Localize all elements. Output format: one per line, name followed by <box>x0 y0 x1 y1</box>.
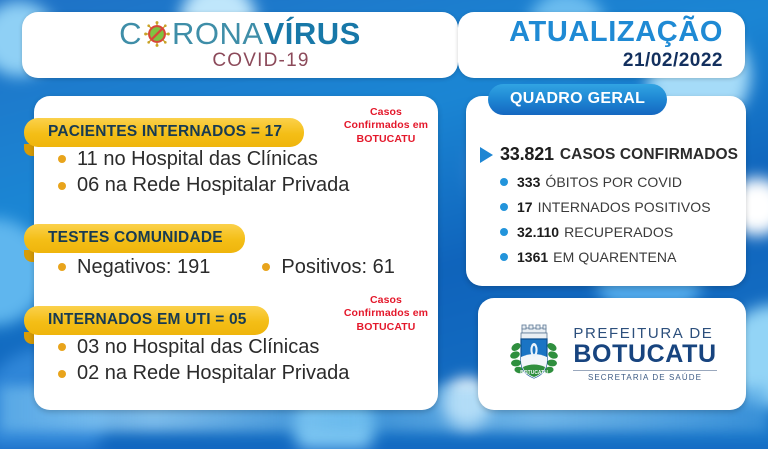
bullet-icon <box>58 155 66 163</box>
arrow-right-icon <box>480 147 493 163</box>
note-line: Casos <box>334 106 438 119</box>
brand-text-mid: RONA <box>172 18 264 49</box>
stat-number: 333 <box>517 174 540 190</box>
bullet-icon <box>58 182 66 190</box>
brand-text-bold: VÍRUS <box>264 18 361 49</box>
hero-stat-number: 33.821 <box>500 144 554 165</box>
stat-label: INTERNADOS POSITIVOS <box>538 199 711 215</box>
bullet-icon <box>500 178 508 186</box>
update-header: ATUALIZAÇÃO 21/02/2022 <box>458 12 745 78</box>
list-item: 06 na Rede Hospitalar Privada <box>58 172 349 198</box>
list-item-label: 11 no Hospital das Clínicas <box>77 146 318 172</box>
list-pacientes-internados: 11 no Hospital das Clínicas 06 na Rede H… <box>58 146 349 199</box>
logo-divider <box>573 370 716 371</box>
stat-row-quarentena: 1361 EM QUARENTENA <box>500 249 711 265</box>
bullet-icon <box>500 203 508 211</box>
bullet-icon <box>500 253 508 261</box>
bullet-icon <box>262 263 270 271</box>
note-line: Confirmados em <box>334 307 438 320</box>
section-pill-internados-uti: INTERNADOS EM UTI = 05 <box>24 306 269 335</box>
update-title: ATUALIZAÇÃO <box>509 18 723 47</box>
svg-text:BOTUCATU: BOTUCATU <box>521 370 549 376</box>
prefeitura-logo-text: PREFEITURA DE BOTUCATU SECRETARIA DE SAÚ… <box>573 326 716 382</box>
prefeitura-logo-card: BOTUCATU PREFEITURA DE BOTUCATU SECRETAR… <box>478 298 746 410</box>
botucatu-coat-of-arms-icon: BOTUCATU <box>507 323 561 385</box>
list-item-label: Positivos: 61 <box>281 254 394 280</box>
bullet-icon <box>500 228 508 236</box>
list-item: 11 no Hospital das Clínicas <box>58 146 349 172</box>
note-line: BOTUCATU <box>334 133 438 146</box>
quadro-geral-pill: QUADRO GERAL <box>488 84 667 115</box>
update-date: 21/02/2022 <box>623 50 723 72</box>
pill-label: PACIENTES INTERNADOS = 17 <box>24 118 304 147</box>
stat-row-internados: 17 INTERNADOS POSITIVOS <box>500 199 711 215</box>
list-testes-comunidade: Negativos: 191 Positivos: 61 <box>58 254 395 280</box>
note-line: BOTUCATU <box>334 321 438 334</box>
pill-label: INTERNADOS EM UTI = 05 <box>24 306 269 335</box>
stat-row-recuperados: 32.110 RECUPERADOS <box>500 224 711 240</box>
stat-number: 1361 <box>517 249 548 265</box>
virus-icon <box>143 20 171 48</box>
logo-line-3: SECRETARIA DE SAÚDE <box>573 373 716 382</box>
stat-row-obitos: 333 ÓBITOS POR COVID <box>500 174 711 190</box>
brand-subtitle: COVID-19 <box>212 50 309 72</box>
note-casos-confirmados-1: Casos Confirmados em BOTUCATU <box>334 106 438 146</box>
quadro-geral-card: QUADRO GERAL 33.821 CASOS CONFIRMADOS 33… <box>466 96 746 286</box>
stat-label: EM QUARENTENA <box>553 249 676 265</box>
logo-line-2: BOTUCATU <box>573 342 716 368</box>
section-pill-testes-comunidade: TESTES COMUNIDADE <box>24 224 245 253</box>
stat-number: 17 <box>517 199 533 215</box>
note-casos-confirmados-2: Casos Confirmados em BOTUCATU <box>334 294 438 334</box>
hero-stat-casos-confirmados: 33.821 CASOS CONFIRMADOS <box>480 144 738 165</box>
list-item: Negativos: 191 <box>58 254 210 280</box>
bullet-icon <box>58 343 66 351</box>
note-line: Confirmados em <box>334 119 438 132</box>
list-item-label: 03 no Hospital das Clínicas <box>77 334 319 360</box>
list-item-label: Negativos: 191 <box>77 254 210 280</box>
hero-stat-label: CASOS CONFIRMADOS <box>560 146 738 164</box>
local-stats-card: PACIENTES INTERNADOS = 17 Casos Confirma… <box>34 96 438 410</box>
list-item-label: 06 na Rede Hospitalar Privada <box>77 172 349 198</box>
brand-header: C <box>22 12 458 78</box>
list-item-label: 02 na Rede Hospitalar Privada <box>77 360 349 386</box>
brand-text-pre: C <box>119 18 142 49</box>
stat-label: RECUPERADOS <box>564 224 673 240</box>
bullet-icon <box>58 263 66 271</box>
list-internados-uti: 03 no Hospital das Clínicas 02 na Rede H… <box>58 334 349 387</box>
list-item: 03 no Hospital das Clínicas <box>58 334 349 360</box>
list-item: 02 na Rede Hospitalar Privada <box>58 360 349 386</box>
quadro-geral-stat-list: 333 ÓBITOS POR COVID 17 INTERNADOS POSIT… <box>500 174 711 274</box>
stat-label: ÓBITOS POR COVID <box>545 174 682 190</box>
brand-wordmark: C <box>119 18 361 49</box>
note-line: Casos <box>334 294 438 307</box>
section-pill-pacientes-internados: PACIENTES INTERNADOS = 17 <box>24 118 304 147</box>
list-item: Positivos: 61 <box>262 254 394 280</box>
stat-number: 32.110 <box>517 224 559 240</box>
pill-label: TESTES COMUNIDADE <box>24 224 245 253</box>
bullet-icon <box>58 370 66 378</box>
